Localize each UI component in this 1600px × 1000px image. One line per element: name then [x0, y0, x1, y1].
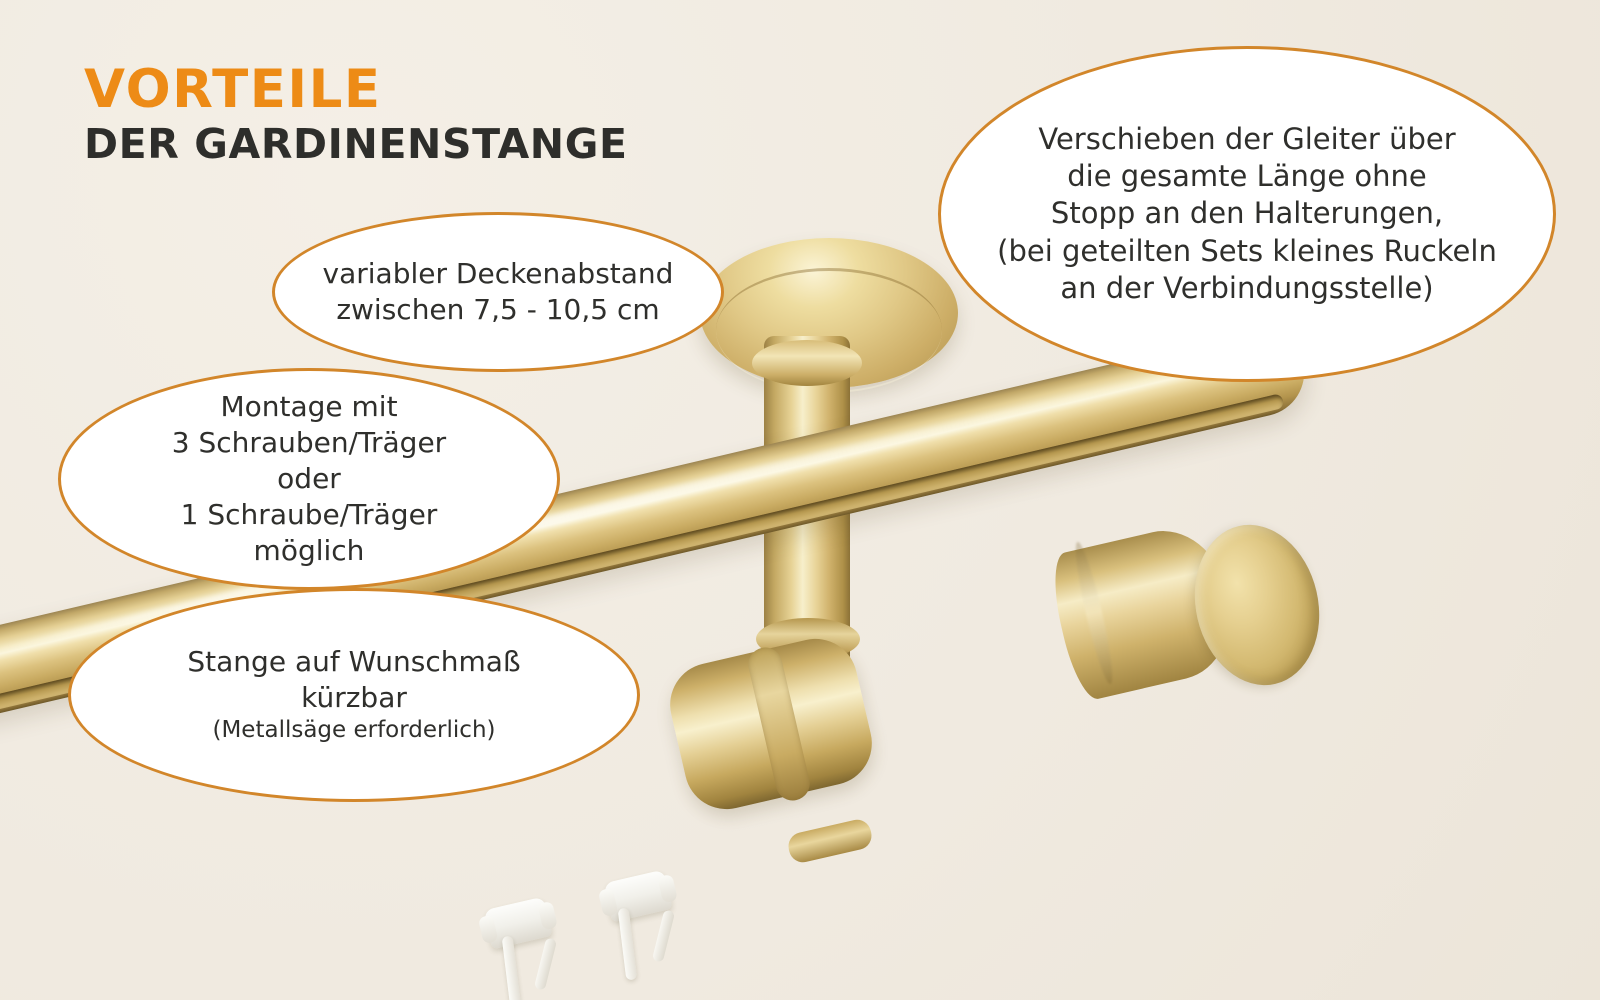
bracket-stem-upper-collar: [752, 340, 862, 386]
callout-stange: Stange auf Wunschmaß kürzbar (Metallsäge…: [68, 588, 640, 802]
callout-stange-line-1: Stange auf Wunschmaß: [187, 645, 520, 678]
callout-montage-line-4: 1 Schraube/Träger: [181, 498, 438, 531]
callout-montage: Montage mit 3 Schrauben/Träger oder 1 Sc…: [58, 368, 560, 590]
callout-gleiter-line-2: die gesamte Länge ohne: [1067, 159, 1426, 193]
callout-deckenabstand-line-2: zwischen 7,5 - 10,5 cm: [336, 293, 659, 326]
curtain-glider: [483, 897, 552, 950]
callout-stange-line-2: kürzbar: [301, 681, 407, 714]
callout-gleiter-line-4: (bei geteilten Sets kleines Ruckeln: [997, 234, 1497, 268]
page-title: VORTEILE DER GARDINENSTANGE: [84, 62, 628, 166]
curtain-glider-hook-arm: [534, 937, 557, 990]
title-primary: VORTEILE: [84, 62, 628, 117]
callout-montage-line-5: möglich: [254, 534, 365, 567]
callout-stange-line-3: (Metallsäge erforderlich): [187, 716, 520, 745]
infographic-canvas: VORTEILE DER GARDINENSTANGE Verschieben …: [0, 0, 1600, 1000]
callout-gleiter-line-1: Verschieben der Gleiter über: [1038, 122, 1455, 156]
callout-deckenabstand-line-1: variabler Deckenabstand: [323, 257, 674, 290]
callout-gleiter-line-3: Stopp an den Halterungen,: [1051, 196, 1443, 230]
rod-clamp-screw: [786, 817, 875, 865]
callout-gleiter-line-5: an der Verbindungsstelle): [1060, 271, 1433, 305]
callout-montage-line-1: Montage mit: [220, 390, 397, 423]
title-secondary: DER GARDINENSTANGE: [84, 123, 628, 166]
callout-deckenabstand: variabler Deckenabstand zwischen 7,5 - 1…: [272, 212, 724, 372]
callout-montage-line-3: oder: [277, 462, 341, 495]
curtain-glider-hook-arm: [652, 909, 675, 962]
callout-montage-line-2: 3 Schrauben/Träger: [172, 426, 446, 459]
callout-gleiter: Verschieben der Gleiter über die gesamte…: [938, 46, 1556, 382]
curtain-glider-hook: [618, 908, 638, 981]
curtain-glider-hook: [502, 936, 522, 1000]
